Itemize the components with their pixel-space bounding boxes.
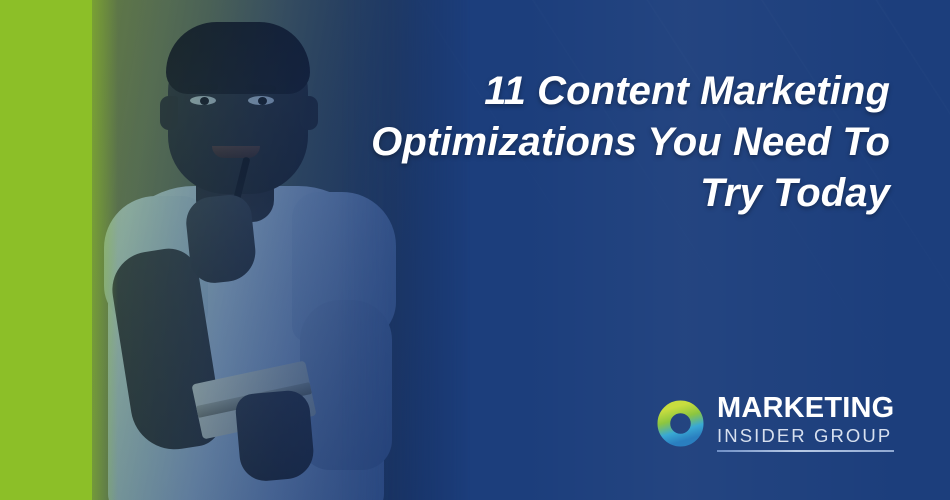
- headline-line-1: 11 Content Marketing: [290, 66, 890, 117]
- accent-green-band: [0, 0, 92, 500]
- page-title: 11 Content Marketing Optimizations You N…: [290, 66, 890, 219]
- headline-line-2: Optimizations You Need To: [290, 117, 890, 168]
- accent-green-band-fade: [92, 0, 118, 500]
- logo-wordmark: MARKETING INSIDER GROUP: [717, 394, 894, 452]
- brand-logo[interactable]: MARKETING INSIDER GROUP: [657, 394, 894, 452]
- headline-line-3: Try Today: [290, 168, 890, 219]
- logo-title: MARKETING: [717, 394, 894, 423]
- blog-header-banner: 11 Content Marketing Optimizations You N…: [0, 0, 950, 500]
- logo-subtitle: INSIDER GROUP: [717, 425, 894, 446]
- logo-underline: [717, 450, 894, 452]
- ring-icon: [657, 400, 704, 447]
